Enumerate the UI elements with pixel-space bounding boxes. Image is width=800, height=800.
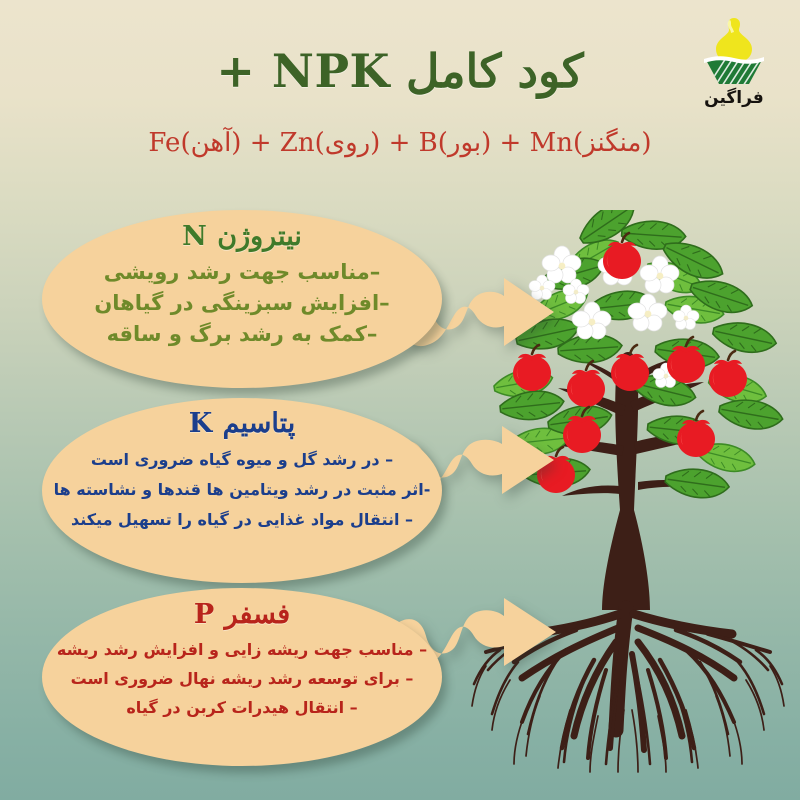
- infographic-poster: کود کامل NPK + (منگنز)Mn + (بور)B + (روی…: [0, 0, 800, 800]
- bubble-line: -اثر مثبت در رشد ویتامین ها قندها و نشاس…: [54, 482, 431, 499]
- bubble-line: – مناسب جهت ریشه زایی و افزایش رشد ریشه: [57, 642, 427, 659]
- bubble-line: –مناسب جهت رشد رویشی: [104, 261, 381, 283]
- bubble-heading-phosphorus: فسفر P: [194, 599, 290, 630]
- brand-logo: فراگین: [686, 14, 782, 106]
- bubble-line: – برای توسعه رشد ریشه نهال ضروری است: [71, 671, 414, 688]
- bubble-heading-nitrogen: نیتروژن N: [182, 221, 302, 252]
- bubble-line: – انتقال مواد غذایی در گیاه را تسهیل میک…: [71, 512, 413, 529]
- nutrient-bubble-phosphorus[interactable]: فسفر P – مناسب جهت ریشه زایی و افزایش رش…: [42, 588, 442, 766]
- bubble-line: –افزایش سبزینگی در گیاهان: [94, 292, 389, 314]
- bubble-tail: [337, 738, 387, 800]
- bubble-line: – در رشد گل و میوه گیاه ضروری است: [91, 452, 393, 469]
- page-title: کود کامل NPK +: [0, 44, 800, 98]
- logo-wordmark: فراگین: [686, 88, 782, 108]
- page-subtitle: (منگنز)Mn + (بور)B + (روی)Zn + (آهن)Fe: [0, 128, 800, 158]
- bubble-heading-potassium: پتاسیم K: [189, 408, 296, 439]
- bubble-line: – انتقال هیدرات کربن در گیاه: [126, 700, 357, 717]
- bubble-line: –کمک به رشد برگ و ساقه: [107, 323, 378, 345]
- nutrient-bubble-nitrogen[interactable]: نیتروژن N –مناسب جهت رشد رویشی –افزایش س…: [42, 210, 442, 388]
- nutrient-bubble-potassium[interactable]: پتاسیم K – در رشد گل و میوه گیاه ضروری ا…: [42, 398, 442, 583]
- logo-mark-icon: [686, 14, 782, 88]
